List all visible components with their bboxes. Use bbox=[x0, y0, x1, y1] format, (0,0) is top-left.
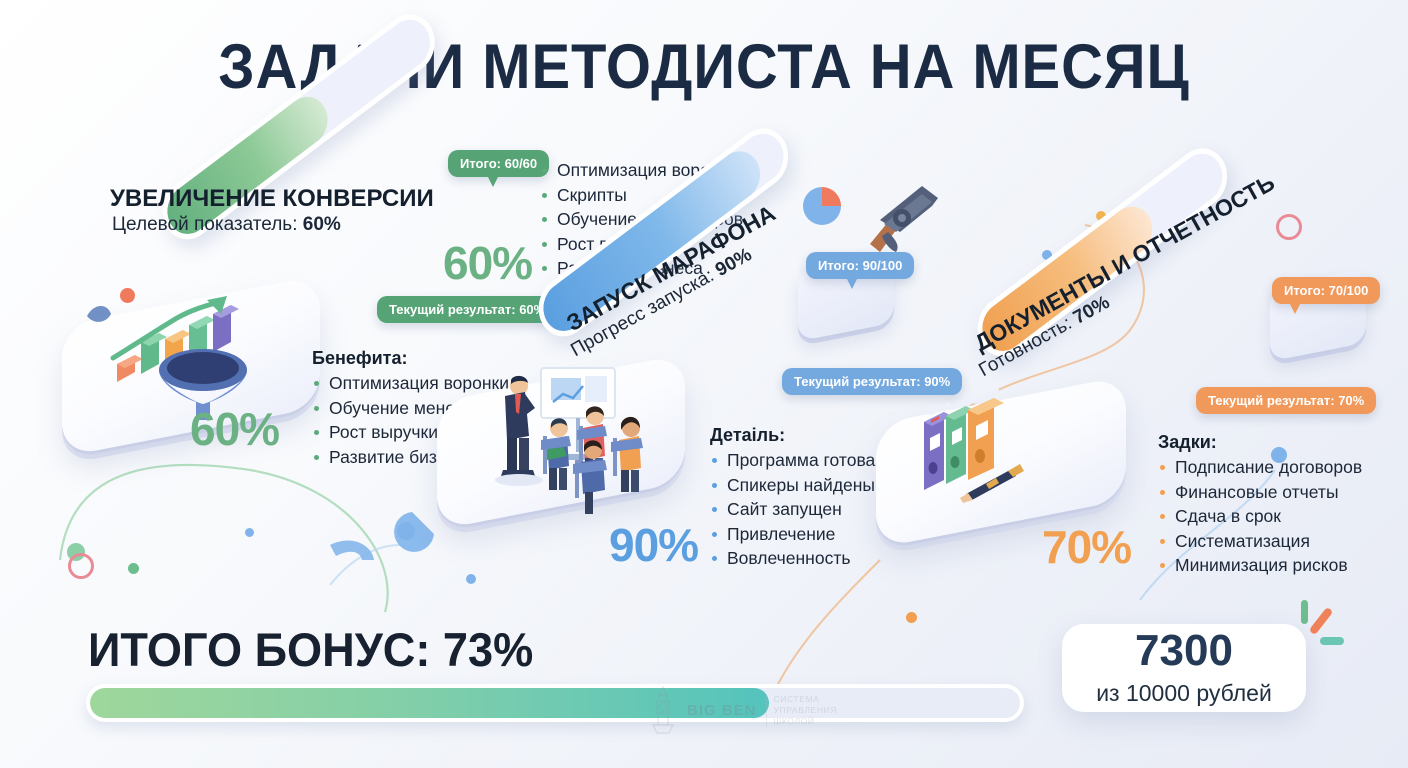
brand-watermark: BIG BEN СИСТЕМА УПРАВЛЕНИЯ ШКОЛОЙ bbox=[648, 686, 837, 734]
decorative-ring bbox=[1276, 214, 1302, 240]
decorative-dash bbox=[1320, 637, 1344, 645]
money-of-total: из 10000 рублей bbox=[1096, 680, 1272, 707]
decorative-dot bbox=[128, 563, 139, 574]
brand-tagline: СИСТЕМА УПРАВЛЕНИЯ ШКОЛОЙ bbox=[766, 694, 838, 727]
decorative-dash bbox=[1301, 600, 1308, 624]
brand-tagline-line1: СИСТЕМА bbox=[774, 694, 838, 705]
decorative-dot bbox=[906, 612, 917, 623]
decorative-dot bbox=[216, 308, 229, 321]
decorative-dot bbox=[1042, 250, 1052, 260]
brand-tagline-line2: УПРАВЛЕНИЯ bbox=[774, 705, 838, 716]
total-progress-track bbox=[90, 688, 1020, 718]
brand-tagline-line3: ШКОЛОЙ bbox=[774, 716, 838, 727]
total-bonus-title: ИТОГО БОНУС: 73% bbox=[88, 622, 533, 677]
decorative-dot bbox=[1096, 211, 1106, 221]
decorative-dot bbox=[466, 574, 476, 584]
money-amount: 7300 bbox=[1135, 629, 1233, 673]
total-progress-bar bbox=[86, 684, 1024, 722]
decorative-dot bbox=[1307, 293, 1316, 302]
decorative-ring bbox=[68, 553, 94, 579]
decorative-dot bbox=[120, 288, 135, 303]
brand-name: BIG BEN bbox=[687, 702, 757, 719]
money-summary-card: 7300 из 10000 рублей bbox=[1062, 624, 1306, 712]
infographic-canvas: ЗАДАЧИ МЕТОДИСТА НА МЕСЯЦ bbox=[0, 0, 1408, 768]
big-ben-tower-icon bbox=[648, 686, 678, 734]
decorative-dot bbox=[245, 528, 254, 537]
decorative-dot bbox=[1022, 285, 1034, 297]
